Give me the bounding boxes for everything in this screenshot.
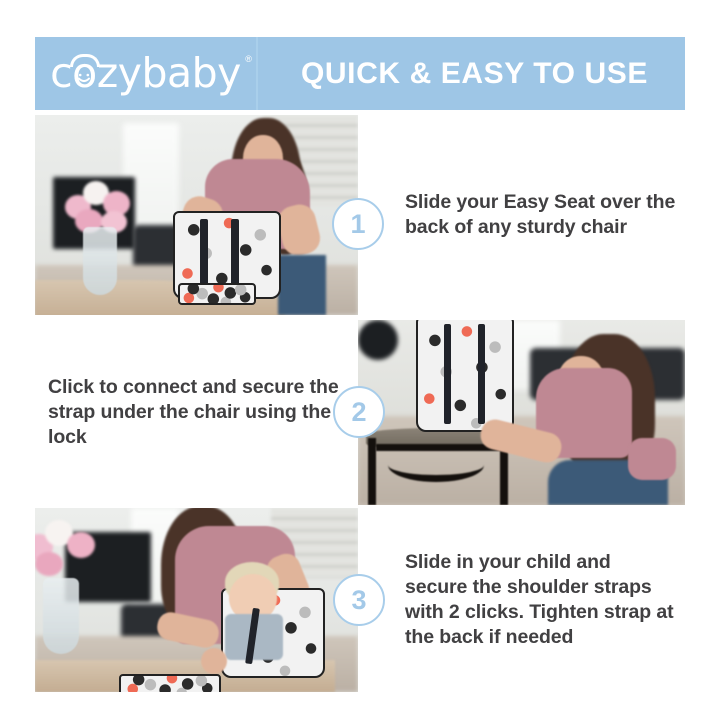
step-3-text: Slide in your child and secure the shoul… xyxy=(405,550,676,651)
step-2-number-badge: 2 xyxy=(333,386,385,438)
header-title-zone: QUICK & EASY TO USE xyxy=(258,57,685,91)
step-2-photo xyxy=(358,320,685,505)
step-1-number-badge: 1 xyxy=(332,198,384,250)
step-1-text: Slide your Easy Seat over the back of an… xyxy=(405,190,676,240)
registered-trademark-icon: ® xyxy=(245,55,252,64)
page-title: QUICK & EASY TO USE xyxy=(301,57,648,91)
step-2-text: Click to connect and secure the strap un… xyxy=(48,375,380,450)
brand-logo: cozybaby ® xyxy=(35,37,256,110)
infographic-page: cozybaby ® QUICK & EASY TO USE xyxy=(0,0,720,720)
step-3-number-badge: 3 xyxy=(333,574,385,626)
header-banner: cozybaby ® QUICK & EASY TO USE xyxy=(35,37,685,110)
step-1-photo xyxy=(35,115,358,315)
step-1-text-block: Slide your Easy Seat over the back of an… xyxy=(330,115,690,315)
step-3-photo xyxy=(35,508,358,692)
